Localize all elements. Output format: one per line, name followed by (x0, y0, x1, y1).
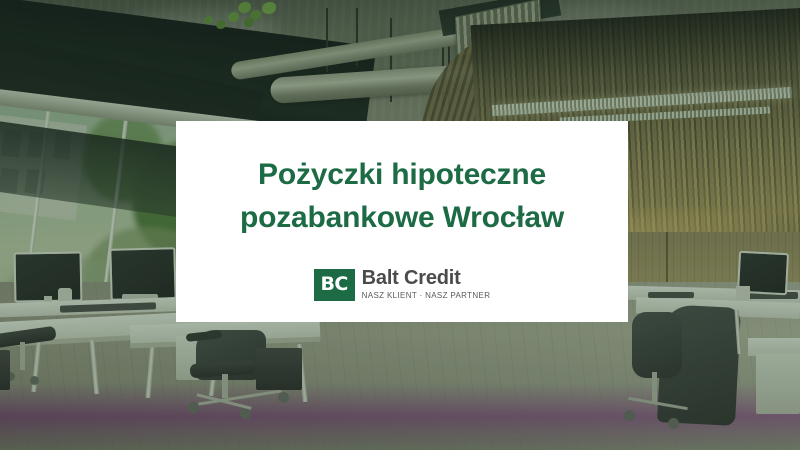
logo-mark-text: BC (320, 275, 347, 294)
logo-text-block: Balt Credit NASZ KLIENT · NASZ PARTNER (362, 268, 491, 301)
page-title: Pożyczki hipoteczne pozabankowe Wrocław (240, 121, 564, 239)
brand-tagline: NASZ KLIENT · NASZ PARTNER (362, 290, 491, 301)
brand-logo[interactable]: BC Balt Credit NASZ KLIENT · NASZ PARTNE… (314, 268, 491, 301)
content-card: Pożyczki hipoteczne pozabankowe Wrocław … (176, 121, 628, 322)
logo-mark-bc: BC (314, 269, 355, 301)
brand-name: Balt Credit (362, 268, 491, 289)
headline-line-2: pozabankowe Wrocław (240, 196, 564, 239)
hero-banner: Pożyczki hipoteczne pozabankowe Wrocław … (0, 0, 800, 450)
headline-line-1: Pożyczki hipoteczne (240, 153, 564, 196)
